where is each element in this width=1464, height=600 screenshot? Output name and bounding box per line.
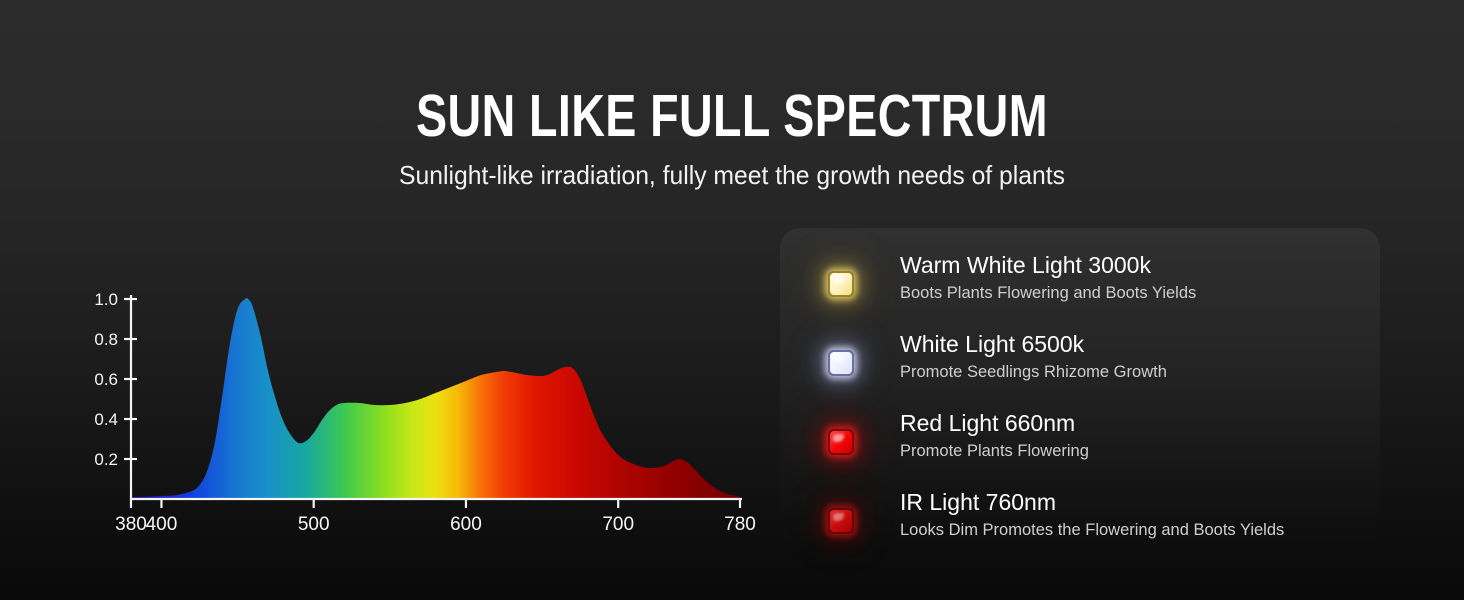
page-title: SUN LIKE FULL SPECTRUM: [154, 86, 1311, 146]
chart-y-tick-labels: 0.20.40.60.81.0: [94, 290, 118, 469]
legend-panel: Warm White Light 3000k Boots Plants Flow…: [780, 228, 1380, 552]
header: SUN LIKE FULL SPECTRUM Sunlight-like irr…: [0, 0, 1464, 190]
led-red-icon: [828, 429, 854, 455]
legend-item-desc: Looks Dim Promotes the Flowering and Boo…: [900, 520, 1284, 541]
x-tick-label: 780: [724, 514, 756, 535]
led-cell: [828, 408, 900, 474]
legend-item-title: IR Light 760nm: [900, 488, 1284, 517]
legend-item-title: Red Light 660nm: [900, 409, 1089, 438]
list-item[interactable]: IR Light 760nm Looks Dim Promotes the Fl…: [828, 487, 1366, 566]
spectrum-curve-area: [131, 298, 740, 499]
legend-list: Warm White Light 3000k Boots Plants Flow…: [828, 250, 1366, 566]
legend-text: Warm White Light 3000k Boots Plants Flow…: [900, 250, 1196, 304]
legend-item-title: Warm White Light 3000k: [900, 251, 1196, 280]
x-tick-label: 700: [602, 514, 634, 535]
x-tick-label: 500: [298, 514, 330, 535]
x-tick-label: 380: [115, 514, 147, 535]
legend-text: White Light 6500k Promote Seedlings Rhiz…: [900, 329, 1167, 383]
y-tick-label: 0.2: [94, 450, 118, 469]
y-tick-label: 0.4: [94, 410, 118, 429]
legend-text: Red Light 660nm Promote Plants Flowering: [900, 408, 1089, 462]
legend-item-desc: Boots Plants Flowering and Boots Yields: [900, 283, 1196, 304]
list-item[interactable]: Red Light 660nm Promote Plants Flowering: [828, 408, 1366, 487]
x-tick-label: 400: [146, 514, 178, 535]
led-cool-white-icon: [828, 350, 854, 376]
spectrum-chart: 380400500600700780 0.20.40.60.81.0: [80, 272, 780, 542]
spectrum-chart-svg: 380400500600700780 0.20.40.60.81.0: [80, 272, 780, 542]
led-cell: [828, 487, 900, 553]
legend-item-title: White Light 6500k: [900, 330, 1167, 359]
legend-item-desc: Promote Seedlings Rhizome Growth: [900, 362, 1167, 383]
chart-x-tick-labels: 380400500600700780: [115, 514, 756, 535]
led-cell: [828, 250, 900, 316]
led-warm-white-icon: [828, 271, 854, 297]
legend-item-desc: Promote Plants Flowering: [900, 441, 1089, 462]
list-item[interactable]: White Light 6500k Promote Seedlings Rhiz…: [828, 329, 1366, 408]
legend-text: IR Light 760nm Looks Dim Promotes the Fl…: [900, 487, 1284, 541]
x-tick-label: 600: [450, 514, 482, 535]
list-item[interactable]: Warm White Light 3000k Boots Plants Flow…: [828, 250, 1366, 329]
y-tick-label: 0.6: [94, 370, 118, 389]
led-ir-icon: [828, 508, 854, 534]
y-tick-label: 1.0: [94, 290, 118, 309]
page-subtitle: Sunlight-like irradiation, fully meet th…: [37, 160, 1428, 190]
y-tick-label: 0.8: [94, 330, 118, 349]
led-cell: [828, 329, 900, 395]
